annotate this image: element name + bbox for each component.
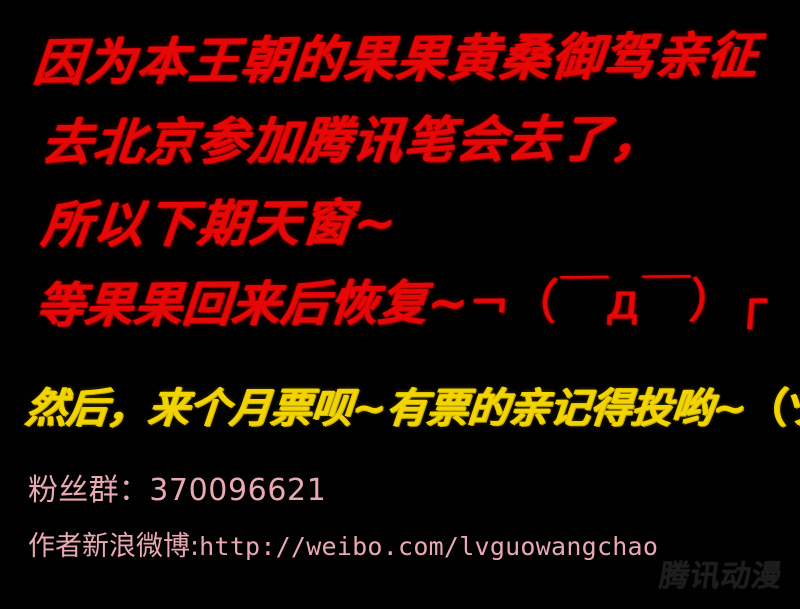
monthly-ticket-request-kaomoji: （ヅ・3・）ヅ~: [745, 384, 800, 432]
tencent-comics-watermark: 腾讯动漫: [657, 551, 786, 595]
monthly-ticket-request-text: 然后，来个月票呗~有票的亲记得投哟~: [24, 384, 749, 432]
fanclub-info: 粉丝群：370096621: [28, 476, 326, 506]
announcement-line-4-text: 等果果回来后恢复~: [34, 275, 472, 334]
weibo-label: 作者新浪微博:: [28, 531, 199, 562]
comic-author-note-page: 因为本王朝的果果黄桑御驾亲征 去北京参加腾讯笔会去了， 所以下期天窗~ 等果果回…: [0, 0, 800, 609]
weibo-info: 作者新浪微博:http://weibo.com/lvguowangchao: [28, 533, 658, 560]
announcement-line-4-kaomoji: ¬（￣д￣）┌: [467, 273, 769, 331]
fanclub-label: 粉丝群：: [28, 473, 149, 508]
announcement-line-1: 因为本王朝的果果黄桑御驾亲征: [32, 30, 762, 88]
announcement-line-3: 所以下期天窗~: [40, 198, 401, 250]
fanclub-number: 370096621: [149, 473, 326, 508]
announcement-line-2: 去北京参加腾讯笔会去了，: [40, 114, 666, 168]
monthly-ticket-request-line: 然后，来个月票呗~有票的亲记得投哟~（ヅ・3・）ヅ~: [24, 388, 800, 429]
announcement-line-4: 等果果回来后恢复~¬（￣д￣）┌: [34, 277, 769, 330]
weibo-url[interactable]: http://weibo.com/lvguowangchao: [199, 532, 658, 561]
